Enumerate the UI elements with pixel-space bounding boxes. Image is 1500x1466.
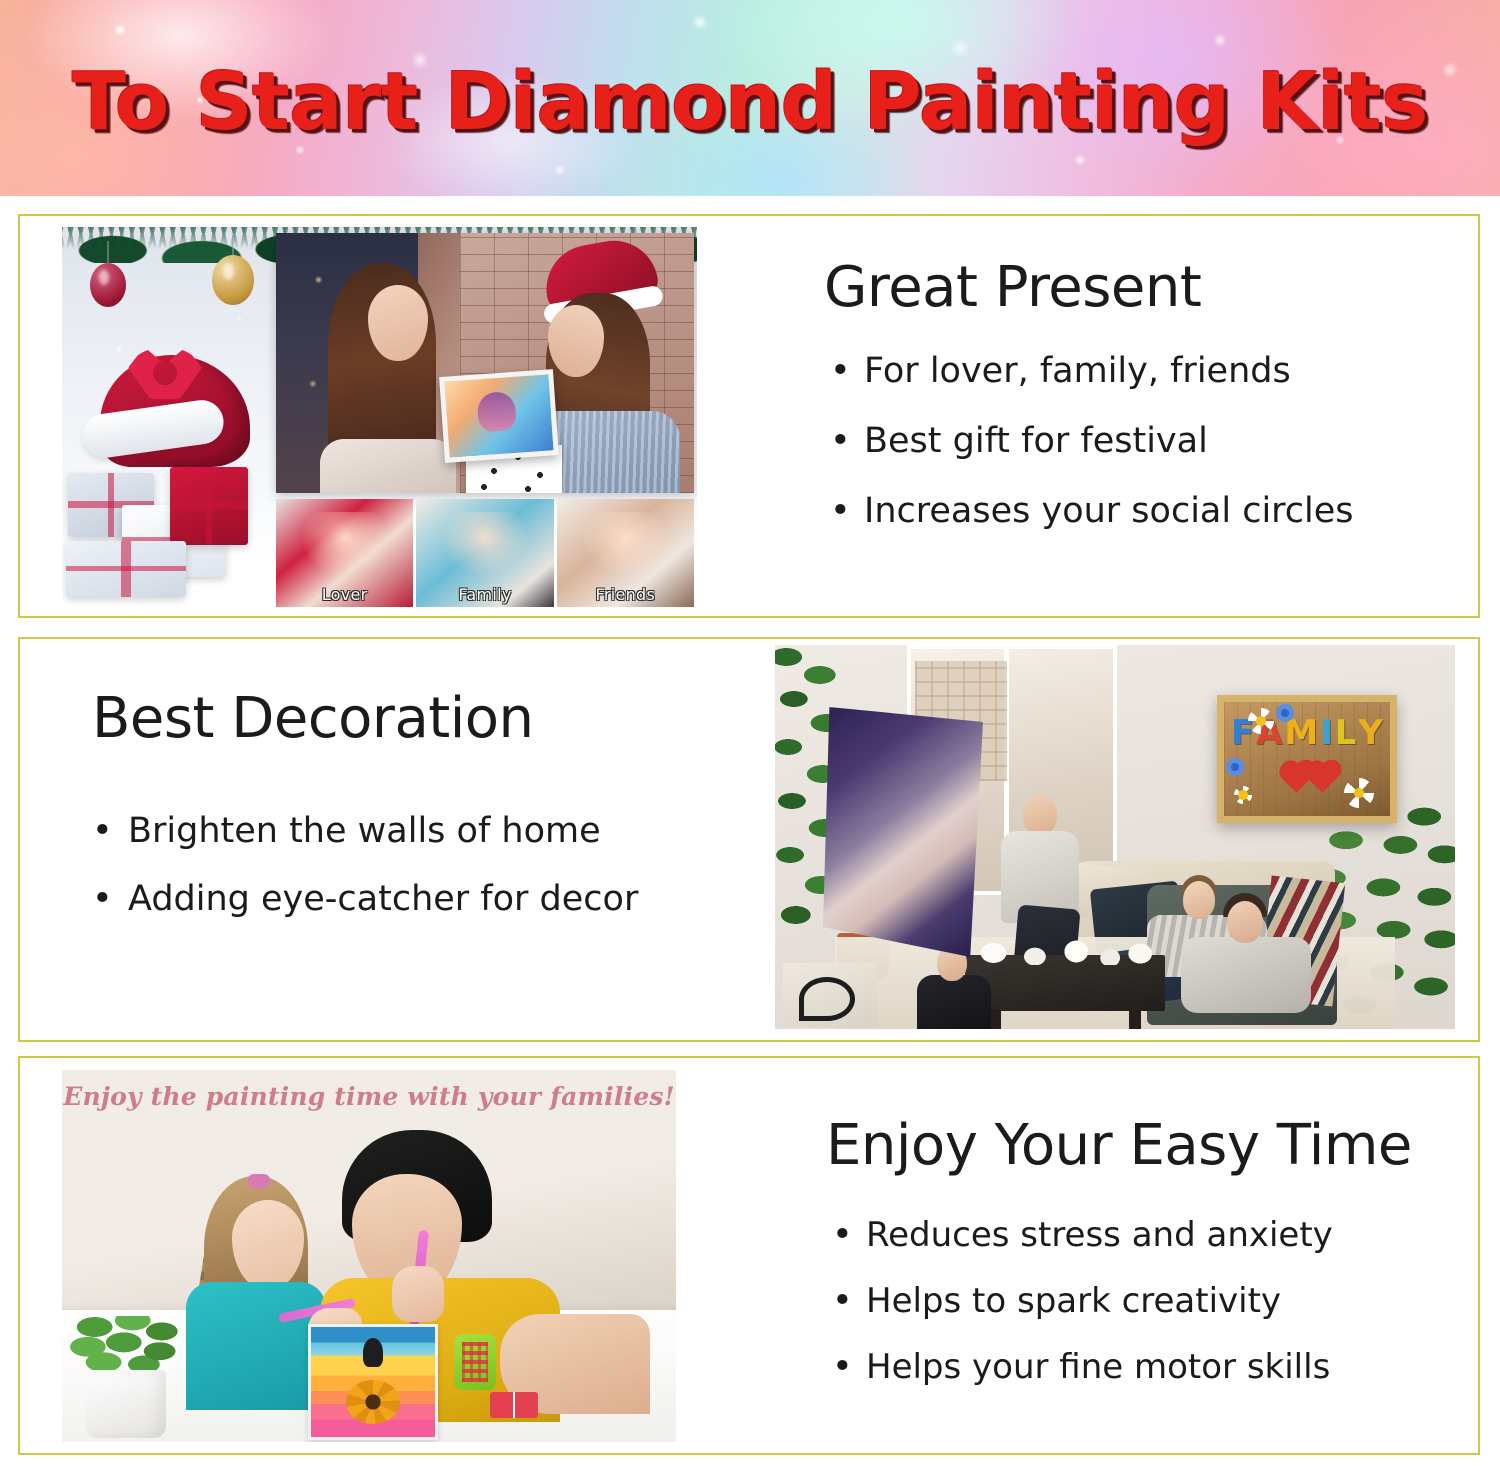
girl-teal-shirt [186, 1282, 326, 1410]
bullet-marker-icon: • [830, 406, 851, 476]
sub-photo-friends: Friends [557, 499, 694, 607]
bullet-text: Adding eye-catcher for decor [128, 879, 638, 919]
daisy-flower-icon [1344, 778, 1374, 808]
best-decoration-text-column: Best Decoration • Brighten the walls of … [92, 689, 638, 933]
sub-photo-family: Family [416, 499, 553, 607]
feature-panel-great-present: Lover Family Friends Great Present • For… [18, 214, 1480, 618]
gift-exchange-photo [276, 233, 694, 493]
letter-i: I [1320, 716, 1333, 750]
gift-box [170, 467, 248, 545]
bullet-item: • Best gift for festival [824, 406, 1354, 476]
girl-hair-clip-icon [248, 1174, 270, 1188]
hearts-decoration [1286, 768, 1334, 788]
bullet-text: Brighten the walls of home [128, 811, 601, 851]
peace-sign-floor-bag [783, 963, 877, 1027]
letter-l: L [1335, 716, 1357, 750]
bullet-item: • Brighten the walls of home [92, 797, 638, 865]
cornflower-icon [1276, 704, 1294, 722]
person-sofa-head [1183, 881, 1215, 919]
bullet-text: Helps your fine motor skills [866, 1347, 1330, 1387]
enjoy-your-easy-time-text-column: Enjoy Your Easy Time • Reduces stress an… [826, 1116, 1412, 1400]
bullet-item: • Reduces stress and anxiety [826, 1202, 1412, 1268]
daisy-flower-icon [1234, 786, 1252, 804]
letter-y: Y [1358, 716, 1383, 750]
bullet-item: • Increases your social circles [824, 476, 1354, 546]
bullet-marker-icon: • [832, 1334, 853, 1400]
bullet-text: For lover, family, friends [864, 351, 1291, 391]
bullet-marker-icon: • [830, 336, 851, 406]
person-window-head [1023, 795, 1057, 835]
relationship-photo-row: Lover Family Friends [276, 499, 694, 607]
great-present-text-column: Great Present • For lover, family, frien… [824, 258, 1354, 546]
red-wax-squares [490, 1392, 538, 1418]
bullet-item: • Helps your fine motor skills [826, 1334, 1412, 1400]
feature-bullet-list-great-present: • For lover, family, friends • Best gift… [824, 336, 1354, 546]
bullet-text: Increases your social circles [864, 491, 1354, 531]
person-armchair-body [1181, 937, 1311, 1013]
gift-box [66, 541, 186, 597]
woman-left-body [320, 439, 456, 493]
green-drill-tray [454, 1334, 496, 1390]
bullet-marker-icon: • [830, 476, 851, 546]
bullet-marker-icon: • [832, 1268, 853, 1334]
hand-photo-overlay [823, 707, 983, 957]
family-wall-diamond-painting: F A M I L Y [1217, 695, 1397, 823]
christmas-gift-collage-image: Lover Family Friends [62, 227, 697, 609]
bullet-marker-icon: • [92, 797, 113, 865]
person-floor-body [917, 975, 991, 1029]
father-hand [392, 1266, 444, 1322]
white-plant-pot [86, 1370, 166, 1438]
father-daughter-painting-image: Enjoy the painting time with your famili… [62, 1070, 676, 1442]
feature-title-enjoy-your-easy-time: Enjoy Your Easy Time [826, 1116, 1412, 1176]
bullet-item: • Helps to spark creativity [826, 1268, 1412, 1334]
gift-pile-decoration [66, 355, 266, 609]
bullet-text: Reduces stress and anxiety [866, 1215, 1333, 1255]
heart-icon [1308, 763, 1338, 793]
ornament-ball-gold-icon [212, 255, 254, 305]
feature-title-great-present: Great Present [824, 258, 1354, 318]
cornflower-icon [1226, 758, 1244, 776]
page-title: To Start Diamond Painting Kits [0, 58, 1500, 146]
feature-bullet-list-best-decoration: • Brighten the walls of home • Adding ey… [92, 797, 638, 933]
cups-on-table [971, 935, 1159, 965]
feature-title-best-decoration: Best Decoration [92, 689, 638, 749]
ornament-ball-red-icon [90, 263, 126, 307]
bullet-item: • For lover, family, friends [824, 336, 1354, 406]
feature-bullet-list-enjoy-your-easy-time: • Reduces stress and anxiety • Helps to … [826, 1202, 1412, 1400]
bullet-text: Helps to spark creativity [866, 1281, 1281, 1321]
daisy-flower-icon [1248, 708, 1274, 734]
image-caption-enjoy-painting-time: Enjoy the painting time with your famili… [62, 1082, 676, 1111]
feature-panel-enjoy-your-easy-time: Enjoy the painting time with your famili… [18, 1056, 1480, 1455]
bullet-text: Best gift for festival [864, 421, 1208, 461]
infographic-page: To Start Diamond Painting Kits [0, 0, 1500, 1466]
sunflower-diamond-painting-canvas [308, 1324, 438, 1440]
letter-m: M [1284, 716, 1318, 750]
feature-panel-best-decoration: Best Decoration • Brighten the walls of … [18, 637, 1480, 1042]
bullet-marker-icon: • [92, 865, 113, 933]
header-banner: To Start Diamond Painting Kits [0, 0, 1500, 196]
sub-photo-lover: Lover [276, 499, 413, 607]
sub-photo-caption-friends: Friends [557, 585, 694, 604]
bullet-item: • Adding eye-catcher for decor [92, 865, 638, 933]
sub-photo-caption-lover: Lover [276, 585, 413, 604]
framed-diamond-painting [439, 369, 559, 463]
living-room-decoration-image: F A M I L Y [775, 645, 1455, 1029]
person-armchair-head [1227, 901, 1263, 943]
sub-photo-caption-family: Family [416, 585, 553, 604]
bullet-marker-icon: • [832, 1202, 853, 1268]
